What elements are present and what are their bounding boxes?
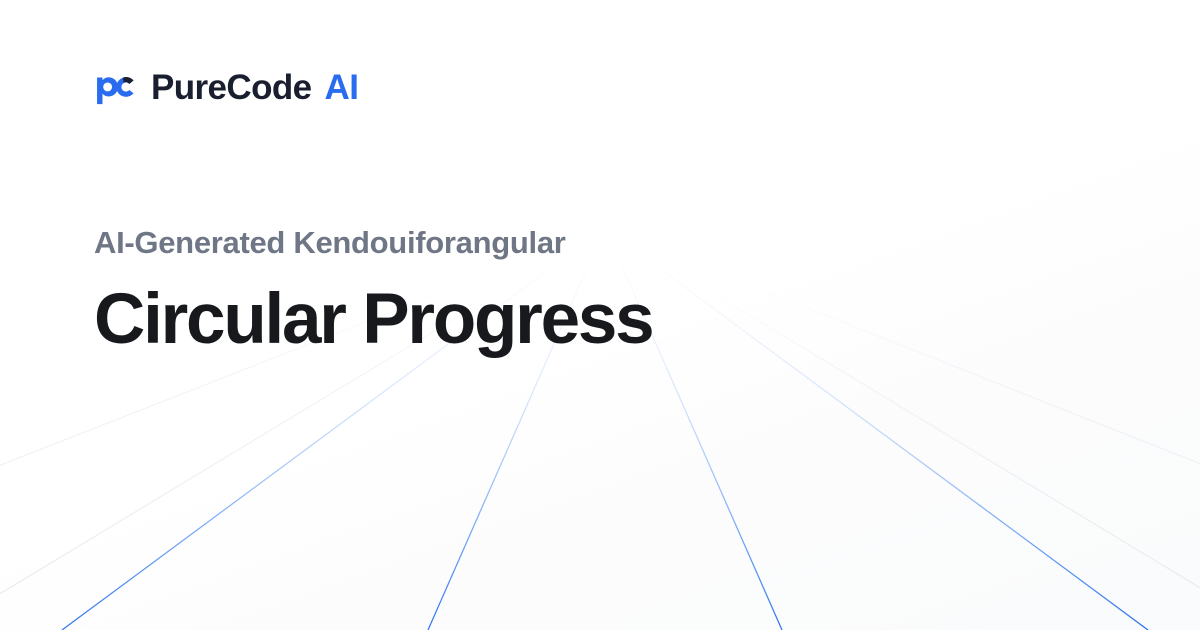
brand-logo-lockup[interactable]: PureCode AI (94, 64, 358, 110)
purecode-pc-monogram-icon (94, 66, 136, 108)
brand-wordmark: PureCode AI (151, 70, 358, 105)
brand-wordmark-accent: AI (325, 70, 359, 105)
hero-text-block: AI-Generated Kendouiforangular Circular … (94, 226, 994, 358)
hero-title: Circular Progress (94, 282, 994, 359)
brand-wordmark-primary: PureCode (151, 70, 312, 105)
hero-eyebrow: AI-Generated Kendouiforangular (94, 226, 994, 261)
og-image-canvas: PureCode AI AI-Generated Kendouiforangul… (0, 0, 1200, 630)
